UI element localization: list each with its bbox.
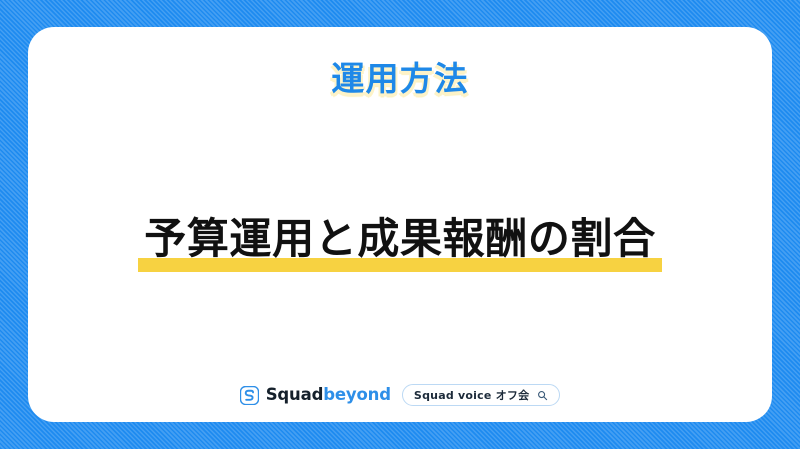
section-eyebrow: 運用方法 xyxy=(28,59,772,99)
brand-wordmark: Squadbeyond xyxy=(266,387,391,404)
footer-brand-row: Squadbeyond Squad voice オフ会 xyxy=(28,384,772,406)
search-icon xyxy=(537,390,548,401)
brand-wordmark-squad: Squad xyxy=(266,385,324,404)
squadbeyond-s-logo-icon xyxy=(240,386,259,405)
squad-voice-badge-label: Squad voice オフ会 xyxy=(414,390,529,401)
headline: 予算運用と成果報酬の割合 xyxy=(138,213,662,274)
slide-card: 運用方法 予算運用と成果報酬の割合 Squadbeyond Squad vo xyxy=(28,27,772,422)
slide-root: 運用方法 予算運用と成果報酬の割合 Squadbeyond Squad vo xyxy=(0,0,800,449)
section-eyebrow-text: 運用方法 xyxy=(331,59,468,99)
squad-voice-badge[interactable]: Squad voice オフ会 xyxy=(402,384,560,406)
headline-text: 予算運用と成果報酬の割合 xyxy=(144,214,656,263)
headline-container: 予算運用と成果報酬の割合 xyxy=(28,213,772,274)
brand-wordmark-beyond: beyond xyxy=(323,385,391,404)
brand-lockup: Squadbeyond xyxy=(240,386,391,405)
